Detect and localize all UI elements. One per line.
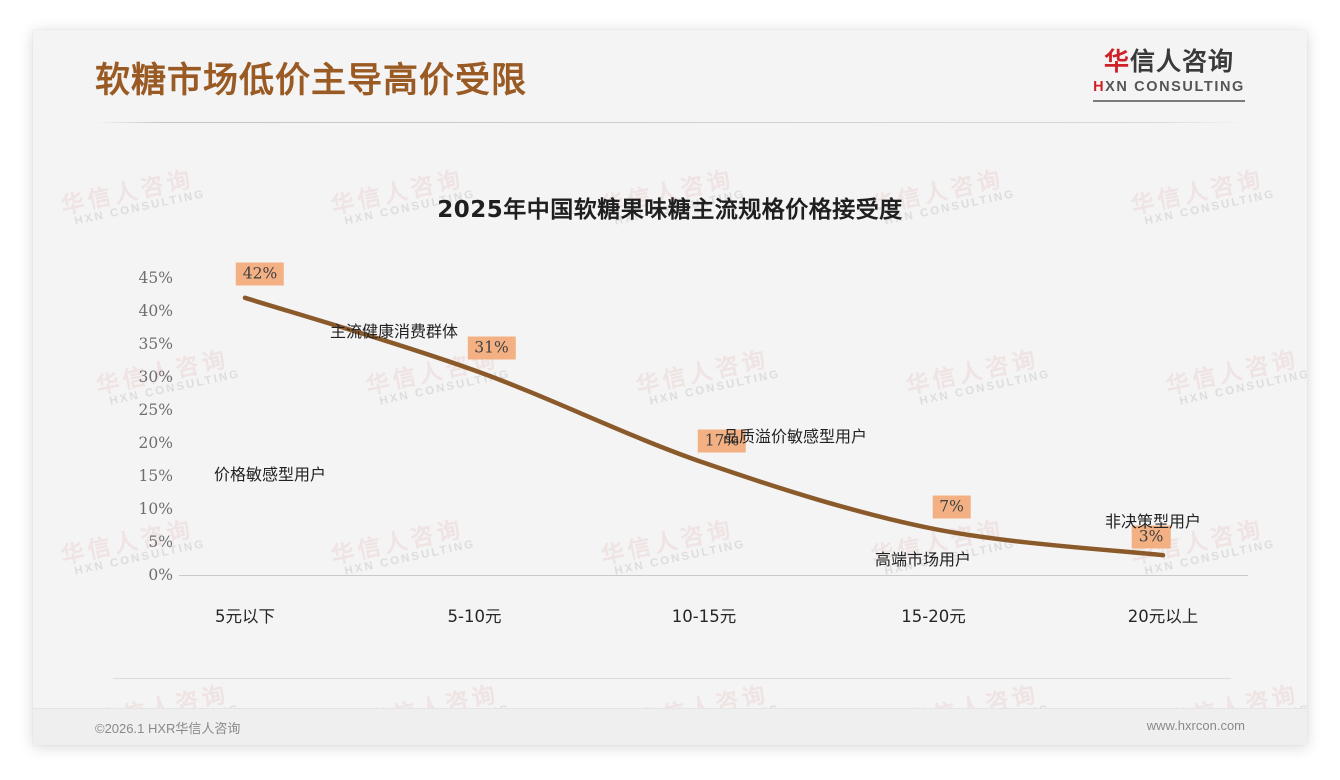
x-axis-tick-label: 10-15元 [672,603,736,627]
logo-english-text: HXN CONSULTING [1093,79,1245,95]
company-logo: 华信人咨询 HXN CONSULTING [1093,48,1245,102]
chart-annotation: 价格敏感型用户 [214,461,326,485]
copyright-text: ©2026.1 HXR华信人咨询 [95,718,240,737]
y-axis-tick-label: 5% [111,533,173,551]
y-axis-tick-label: 15% [111,467,173,485]
data-point-label: 31% [467,337,515,360]
slide-footer: ©2026.1 HXR华信人咨询 www.hxrcon.com [33,708,1307,745]
note-divider-top [113,678,1231,679]
chart-annotation: 品质溢价敏感型用户 [723,423,867,447]
y-axis-tick-label: 35% [111,335,173,353]
x-axis-tick-label: 15-20元 [901,603,965,627]
chart-title: 2025年中国软糖果味糖主流规格价格接受度 [33,190,1307,224]
logo-en-rest: XN CONSULTING [1105,79,1245,95]
y-axis-tick-label: 25% [111,401,173,419]
header-divider [95,122,1245,123]
logo-underline [1093,100,1245,102]
website-link[interactable]: www.hxrcon.com [1147,718,1245,733]
chart-annotation: 主流健康消费群体 [330,318,458,342]
data-point-label: 7% [932,495,971,518]
line-chart-plot: 0%5%10%15%20%25%30%35%40%45%5元以下5-10元10-… [33,30,1307,745]
slide-page: 华信人咨询HXN CONSULTING华信人咨询HXN CONSULTING华信… [0,0,1340,780]
page-title: 软糖市场低价主导高价受限 [95,52,527,103]
chart-line-svg [33,30,1307,745]
logo-en-red-char: H [1093,79,1105,95]
x-axis-tick-label: 5元以下 [215,603,275,627]
x-axis-tick-label: 5-10元 [448,603,502,627]
chart-annotation: 高端市场用户 [875,546,971,570]
y-axis-tick-label: 0% [111,566,173,584]
y-axis-tick-label: 40% [111,302,173,320]
y-axis-tick-label: 30% [111,368,173,386]
data-point-label: 42% [236,262,284,285]
logo-chinese-text: 华信人咨询 [1093,48,1245,76]
y-axis-tick-label: 10% [111,500,173,518]
y-axis-tick-label: 45% [111,269,173,287]
x-axis-tick-label: 20元以上 [1128,603,1199,627]
logo-cn-red-char: 华 [1104,47,1130,76]
logo-cn-rest: 信人咨询 [1130,47,1234,76]
slide-card: 华信人咨询HXN CONSULTING华信人咨询HXN CONSULTING华信… [33,30,1307,745]
chart-annotation: 非决策型用户 [1105,508,1201,532]
y-axis-tick-label: 20% [111,434,173,452]
